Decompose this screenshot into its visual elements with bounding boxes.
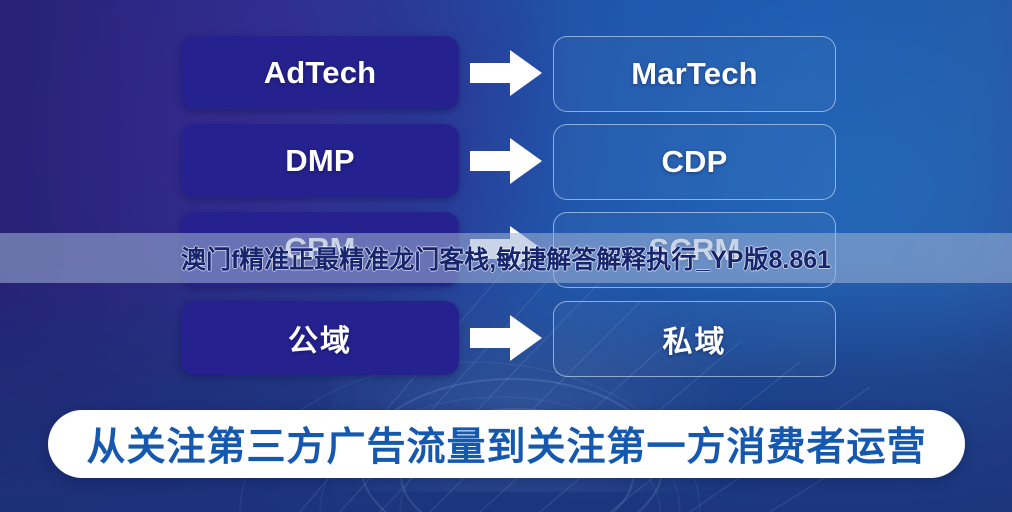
- row-2-right-box[interactable]: CDP: [553, 124, 836, 200]
- comparison-row-2: DMP CDP: [0, 124, 1012, 198]
- slide-canvas: AdTech MarTech DMP CDP CRM: [0, 0, 1012, 512]
- row-2-left-box[interactable]: DMP: [181, 124, 459, 198]
- row-4-left-label: 公域: [288, 316, 352, 360]
- comparison-row-4: 公域 私域: [0, 301, 1012, 375]
- row-1-right-box[interactable]: MarTech: [553, 36, 836, 112]
- row-2-right-label: CDP: [661, 144, 727, 180]
- comparison-row-1: AdTech MarTech: [0, 36, 1012, 110]
- row-4-right-box[interactable]: 私域: [553, 301, 836, 377]
- row-1-left-box[interactable]: AdTech: [181, 36, 459, 110]
- row-4-left-box[interactable]: 公域: [181, 301, 459, 375]
- bottom-banner-text: 从关注第三方广告流量到关注第一方消费者运营: [86, 416, 926, 472]
- watermark-text: 澳门f精准正最精准龙门客栈,敏捷解答解释执行_YP版8.861: [0, 233, 1012, 283]
- row-2-left-label: DMP: [285, 143, 355, 179]
- bottom-banner: 从关注第三方广告流量到关注第一方消费者运营: [48, 410, 965, 478]
- row-1-left-label: AdTech: [264, 55, 377, 91]
- right-arrow-icon: [470, 50, 542, 96]
- right-arrow-icon: [470, 138, 542, 184]
- right-arrow-icon: [470, 315, 542, 361]
- row-1-right-label: MarTech: [631, 56, 758, 92]
- row-4-right-label: 私域: [663, 317, 727, 361]
